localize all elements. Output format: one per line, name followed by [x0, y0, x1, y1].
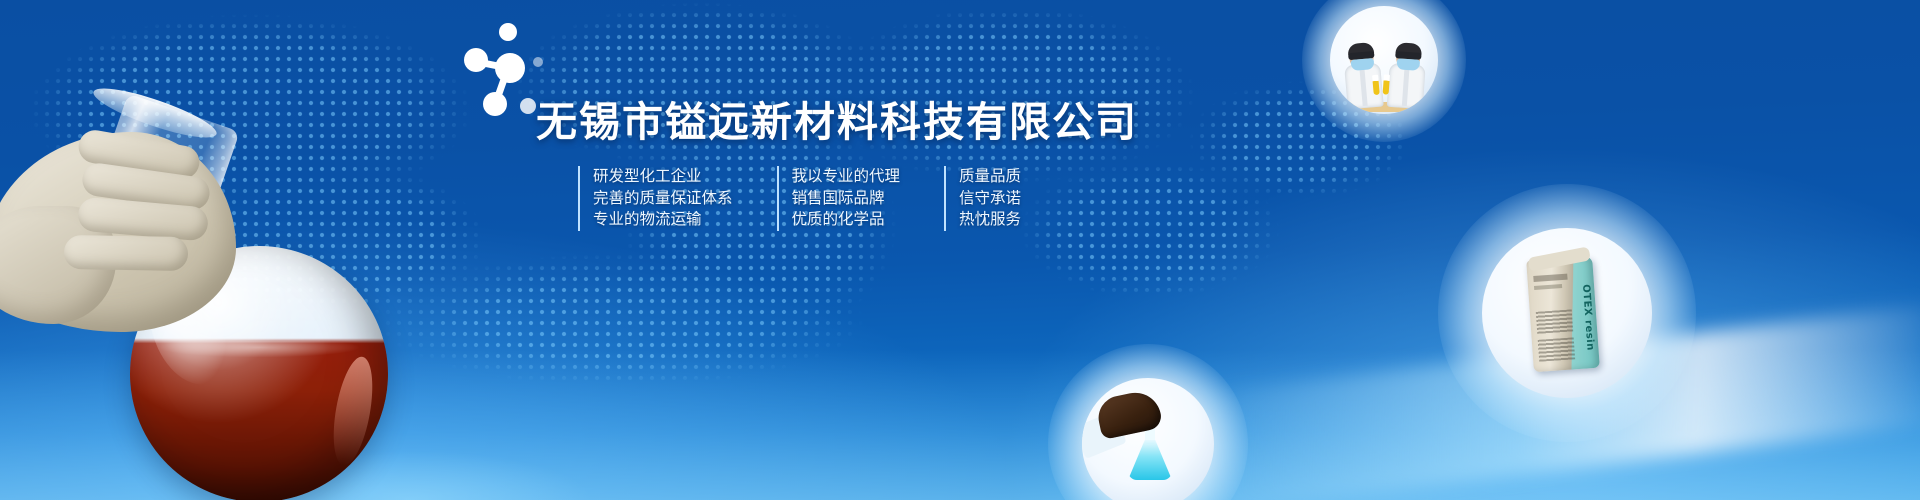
scientist-figure: [1384, 41, 1431, 110]
company-banner: 无锡市镒远新材料科技有限公司 研发型化工企业 完善的质量保证体系 专业的物流运输…: [0, 0, 1920, 500]
slogan-column-3: 质量品质 信守承诺 热忱服务: [944, 166, 1021, 231]
bubble-disc: [1082, 378, 1214, 500]
glove-finger: [64, 235, 189, 271]
slogan-line: 我以专业的代理: [792, 166, 901, 188]
flask-cone: [1128, 440, 1172, 480]
bubble-disc: OTEX resin: [1482, 228, 1652, 398]
bag-printed-block: [1536, 309, 1573, 333]
slogan-line: 信守承诺: [959, 188, 1021, 210]
photo-bubble-scientists: [1330, 6, 1438, 114]
bubble-disc: [1330, 6, 1438, 114]
slogan-line: 研发型化工企业: [593, 166, 733, 188]
photo-bubble-resin-bag: OTEX resin: [1482, 228, 1652, 398]
slogan-column-2: 我以专业的代理 销售国际品牌 优质的化学品: [777, 166, 901, 231]
slogan-line: 完善的质量保证体系: [593, 188, 733, 210]
slogan-line: 专业的物流运输: [593, 209, 733, 231]
slogan-column-1: 研发型化工企业 完善的质量保证体系 专业的物流运输: [578, 166, 733, 231]
slogan-group: 研发型化工企业 完善的质量保证体系 专业的物流运输 我以专业的代理 销售国际品牌…: [578, 166, 1065, 231]
page-title: 无锡市镒远新材料科技有限公司: [536, 88, 1138, 148]
slogan-line: 热忱服务: [959, 209, 1021, 231]
gloved-hand-flask-image: [0, 98, 426, 500]
bag-printed-block: [1538, 337, 1575, 361]
slogan-line: 优质的化学品: [792, 209, 901, 231]
slogan-line: 质量品质: [959, 166, 1021, 188]
photo-bubble-blue-flask: [1082, 378, 1214, 500]
face-mask-icon: [1396, 58, 1420, 71]
slogan-line: 销售国际品牌: [792, 188, 901, 210]
glass-highlight-secondary: [327, 354, 380, 468]
chemical-bag: OTEX resin: [1526, 256, 1600, 372]
scientist-figure: [1339, 40, 1387, 109]
